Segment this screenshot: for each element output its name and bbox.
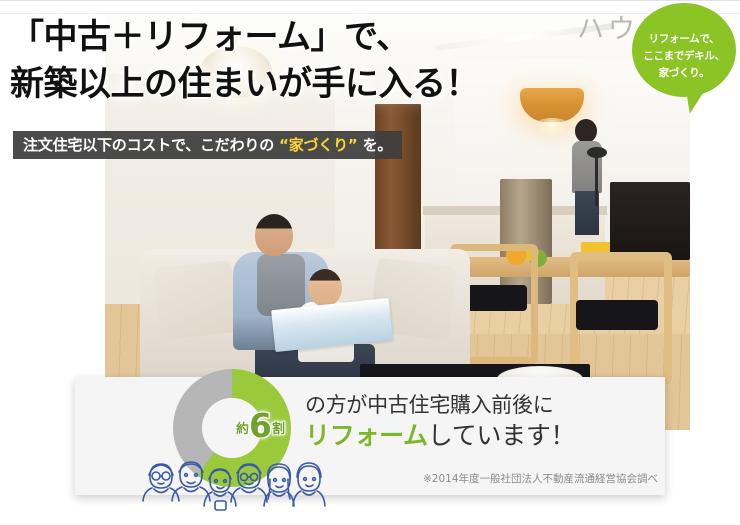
ratio-number: 6 (249, 406, 272, 445)
subtitle-bar: 注文住宅以下のコストで、こだわりの “家づくり” を。 (13, 131, 402, 159)
photo-desk-lamp-arm (595, 154, 598, 206)
subtitle-highlight: “家づくり” (279, 136, 358, 154)
person-icon-3 (204, 469, 236, 510)
photo-piano (610, 182, 690, 260)
bubble-line-3: 家づくり。 (643, 65, 725, 82)
photo-pendant-glow (533, 118, 571, 134)
person-icon-4 (231, 464, 267, 502)
ratio-prefix: 約 (236, 422, 249, 437)
headline-line-1: 「中古＋リフォーム」で、 (10, 17, 410, 57)
page-title: 「中古＋リフォーム」で、 新築以上の住まいが手に入る！ (10, 14, 670, 108)
photo-door (375, 104, 421, 254)
photo-desk-lamp-head (587, 147, 607, 158)
top-divider (0, 0, 740, 1)
photo-person-head (575, 119, 597, 143)
headline-line-2: 新築以上の住まいが手に入る！ (10, 61, 670, 108)
photo-cushion-left (153, 260, 238, 340)
stat-copy-line-2: リフォームしています！ (305, 419, 575, 453)
donut-center-label: 約6割 (236, 409, 285, 442)
family-people-illustration (140, 455, 336, 517)
subtitle-text-pre: 注文住宅以下のコストで、こだわりの (23, 136, 279, 154)
photo-daughter-head (308, 269, 342, 307)
ratio-suffix: 割 (272, 422, 285, 437)
promo-speech-bubble[interactable]: リフォームで、 ここまでデキル、 家づくり。 (632, 3, 736, 97)
bubble-line-2: ここまでデキル、 (643, 48, 725, 65)
stat-copy-line-1: の方が中古住宅購入前後に (305, 391, 575, 419)
source-footnote: ※2014年度一般社団法人不動産流通経営協会調べ (423, 471, 658, 486)
stat-copy-rest: しています！ (428, 421, 575, 450)
photo-father-head (255, 214, 293, 256)
stat-copy-highlight: リフォーム (305, 421, 428, 450)
person-icon-5 (264, 464, 294, 506)
bubble-line-1: リフォームで、 (643, 31, 725, 48)
stat-copy: の方が中古住宅購入前後に リフォームしています！ (305, 391, 575, 453)
photo-person-kitchen (575, 119, 609, 229)
ad-banner: ハウスドゥ 「中古＋リフォーム」で、 新築以上の住まいが手に入る！ 注文住宅以下… (0, 0, 740, 525)
person-icon-6 (293, 463, 325, 506)
subtitle-text-post: を。 (358, 136, 393, 154)
